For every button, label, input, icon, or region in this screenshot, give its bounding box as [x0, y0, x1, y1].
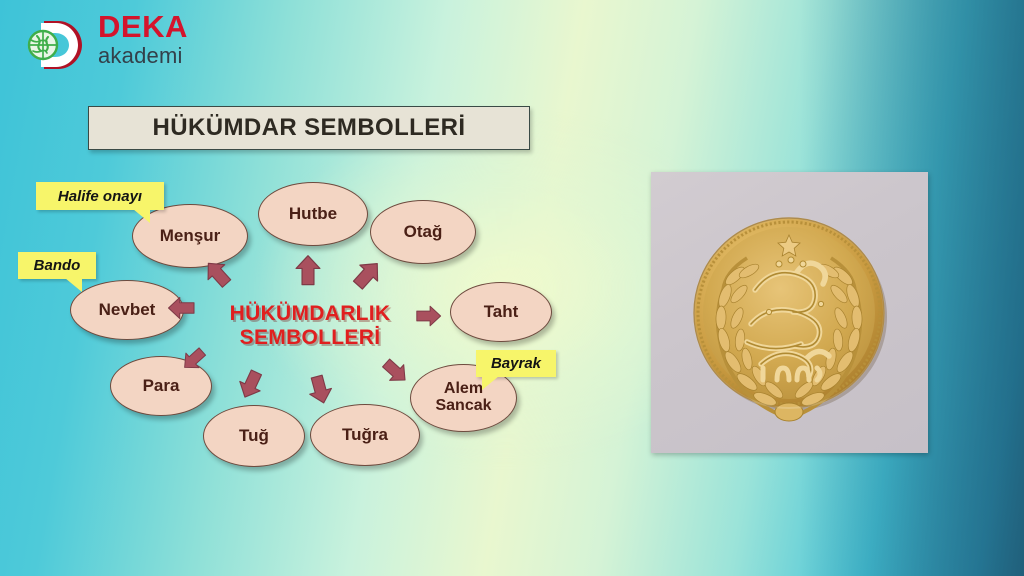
node-label: Nevbet — [99, 301, 156, 319]
callout-halife-onay-[interactable]: Halife onayı — [36, 182, 164, 210]
ottoman-gold-coin-image — [651, 172, 928, 453]
callout-bando[interactable]: Bando — [18, 252, 96, 279]
node-label: Taht — [484, 303, 519, 321]
callout-label: Bayrak — [491, 355, 541, 372]
callout-tail — [133, 209, 150, 223]
diagram-node-tu-[interactable]: Tuğ — [203, 405, 305, 467]
brand-wordmark: DEKA akademi — [98, 10, 188, 69]
node-label-line2: Sancak — [435, 398, 491, 415]
node-label: Tuğ — [239, 427, 269, 445]
node-label: Para — [143, 377, 180, 395]
callout-label: Bando — [34, 257, 81, 274]
brand-name: DEKA — [98, 10, 188, 43]
arrow-up-hutbe-icon — [291, 254, 325, 288]
slide-canvas: DEKA akademi HÜKÜMDAR SEMBOLLERİ HutbeOt… — [0, 0, 1024, 576]
brand-logo: DEKA akademi — [24, 10, 344, 80]
node-label: Menşur — [160, 227, 220, 245]
callout-tail — [65, 278, 82, 292]
node-label: Otağ — [404, 223, 443, 241]
page-title-text: HÜKÜMDAR SEMBOLLERİ — [153, 114, 466, 142]
callout-bayrak[interactable]: Bayrak — [476, 350, 556, 377]
hukumdarlik-sembolleri-diagram: HutbeOtağTahtAlemSancakTuğraTuğParaNevbe… — [10, 160, 610, 490]
node-label: Hutbe — [289, 205, 337, 223]
brand-subtitle: akademi — [98, 43, 188, 69]
coin-photo — [651, 172, 928, 453]
callout-tail — [482, 376, 499, 390]
diagram-node-tu-ra[interactable]: Tuğra — [310, 404, 420, 466]
diagram-center-label: HÜKÜMDARLIK SEMBOLLERİ — [180, 302, 440, 350]
center-label-line2: SEMBOLLERİ — [180, 326, 440, 350]
callout-label: Halife onayı — [58, 188, 142, 205]
diagram-node-hutbe[interactable]: Hutbe — [258, 182, 368, 246]
arrow-to-otag-icon — [343, 251, 391, 299]
node-label: Tuğra — [342, 426, 388, 444]
arrow-to-tug-icon — [230, 363, 273, 406]
globe-chevron-icon — [24, 16, 86, 74]
arrow-to-tugra-icon — [300, 369, 339, 408]
page-title: HÜKÜMDAR SEMBOLLERİ — [88, 106, 530, 150]
diagram-node-taht[interactable]: Taht — [450, 282, 552, 342]
arrow-to-alem-icon — [374, 350, 416, 392]
diagram-node-ota-[interactable]: Otağ — [370, 200, 476, 264]
center-label-line1: HÜKÜMDARLIK — [180, 302, 440, 326]
